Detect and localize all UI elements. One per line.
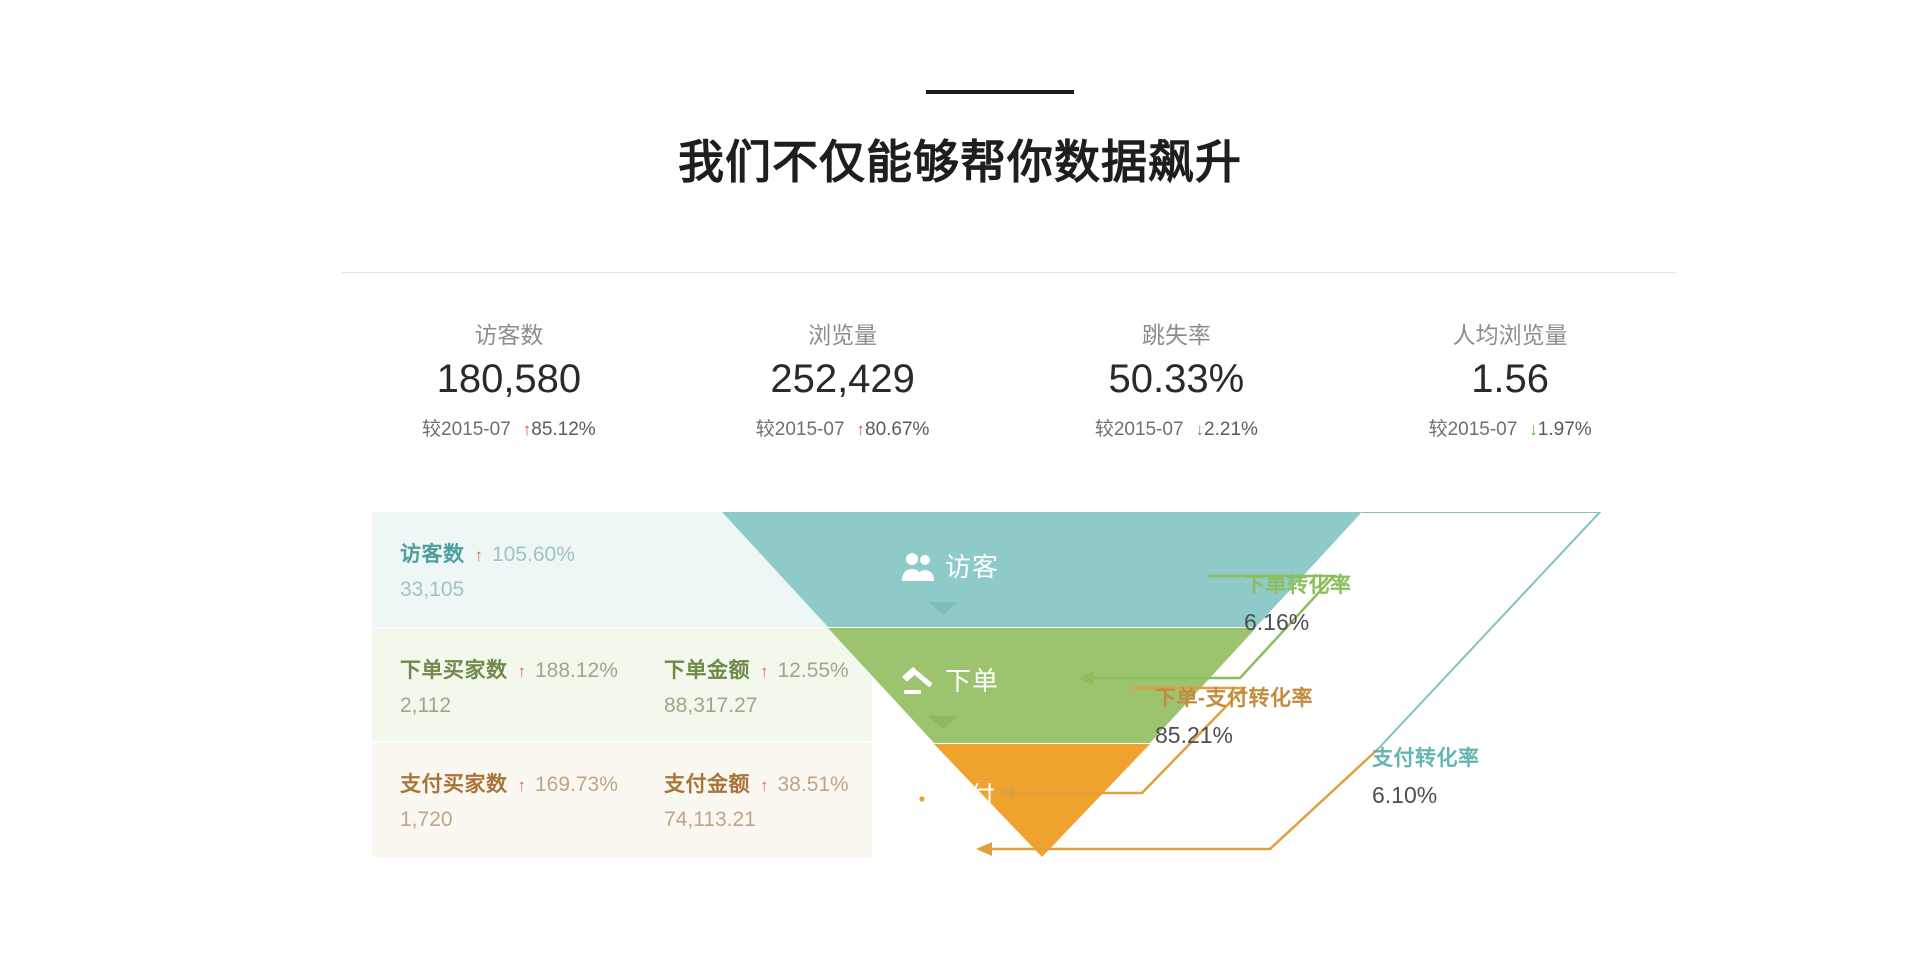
kpi-compare: 较2015-07↓1.97%: [1343, 417, 1677, 443]
kpi-delta-value: 1.97%: [1538, 419, 1592, 440]
conversion-funnel: 访客数↑105.60% 33,105 下单买家数↑188.12% 2,112 下…: [372, 512, 1602, 857]
kpi-compare-label: 较2015-07: [756, 419, 845, 440]
kpi-value: 1.56: [1343, 354, 1677, 404]
conversion-value: 85.21%: [1155, 721, 1313, 749]
kpi-delta-value: 85.12%: [531, 419, 595, 440]
kpi-value: 50.33%: [1010, 354, 1344, 404]
kpi-compare: 较2015-07↑85.12%: [342, 417, 676, 443]
payment-conversion-path: [1362, 512, 1600, 749]
kpi-compare: 较2015-07↑80.67%: [676, 417, 1010, 443]
page-title: 我们不仅能够帮你数据飙升: [0, 133, 1920, 191]
kpi-delta: ↓1.97%: [1529, 419, 1591, 440]
kpi-card-pages-per-visitor: 人均浏览量 1.56 较2015-07↓1.97%: [1343, 320, 1677, 443]
kpi-delta: ↓2.21%: [1196, 419, 1258, 440]
kpi-value: 180,580: [342, 354, 676, 404]
conversion-value: 6.10%: [1372, 781, 1480, 809]
kpi-label: 人均浏览量: [1343, 320, 1677, 350]
kpi-label: 跳失率: [1010, 320, 1344, 350]
arrow-down-icon: ↓: [1529, 420, 1538, 439]
kpi-value: 252,429: [676, 354, 1010, 404]
kpi-compare-label: 较2015-07: [422, 419, 511, 440]
kpi-compare-label: 较2015-07: [1429, 419, 1518, 440]
kpi-delta-value: 2.21%: [1204, 419, 1258, 440]
funnel-caret-down-icon: [928, 716, 958, 729]
section-divider: [342, 272, 1677, 273]
kpi-card-bounce-rate: 跳失率 50.33% 较2015-07↓2.21%: [1010, 320, 1344, 443]
header-rule-decoration: [926, 90, 1074, 94]
arrow-up-icon: ↑: [857, 420, 866, 439]
arrow-down-icon: ↓: [1196, 420, 1205, 439]
funnel-segment-payments: [934, 744, 1150, 857]
kpi-card-pageviews: 浏览量 252,429 较2015-07↑80.67%: [676, 320, 1010, 443]
page-title-prefix: 我们不仅能够帮你: [678, 136, 1054, 188]
funnel-caret-down-icon: [928, 602, 958, 615]
kpi-delta: ↑85.12%: [523, 419, 596, 440]
kpi-compare-label: 较2015-07: [1095, 419, 1184, 440]
total-payment-arrowhead: [976, 842, 992, 856]
kpi-label: 浏览量: [676, 320, 1010, 350]
conversion-order-to-payment-rate: 下单-支付转化率 85.21%: [1155, 685, 1313, 749]
funnel-analytics-page: 我们不仅能够帮你数据飙升 访客数 180,580 较2015-07↑85.12%…: [0, 0, 1920, 962]
conversion-value: 6.16%: [1244, 608, 1352, 636]
conversion-order-rate: 下单转化率 6.16%: [1244, 572, 1352, 636]
conversion-title: 下单-支付转化率: [1155, 685, 1313, 713]
kpi-delta: ↑80.67%: [857, 419, 930, 440]
conversion-title: 支付转化率: [1372, 745, 1480, 773]
conversion-title: 下单转化率: [1244, 572, 1352, 600]
kpi-label: 访客数: [342, 320, 676, 350]
kpi-row: 访客数 180,580 较2015-07↑85.12% 浏览量 252,429 …: [342, 320, 1677, 443]
kpi-card-visitors: 访客数 180,580 较2015-07↑85.12%: [342, 320, 676, 443]
kpi-delta-value: 80.67%: [865, 419, 929, 440]
conversion-payment-rate: 支付转化率 6.10%: [1372, 745, 1480, 809]
arrow-up-icon: ↑: [523, 420, 532, 439]
page-title-strong: 数据飙升: [1054, 136, 1242, 188]
kpi-compare: 较2015-07↓2.21%: [1010, 417, 1344, 443]
